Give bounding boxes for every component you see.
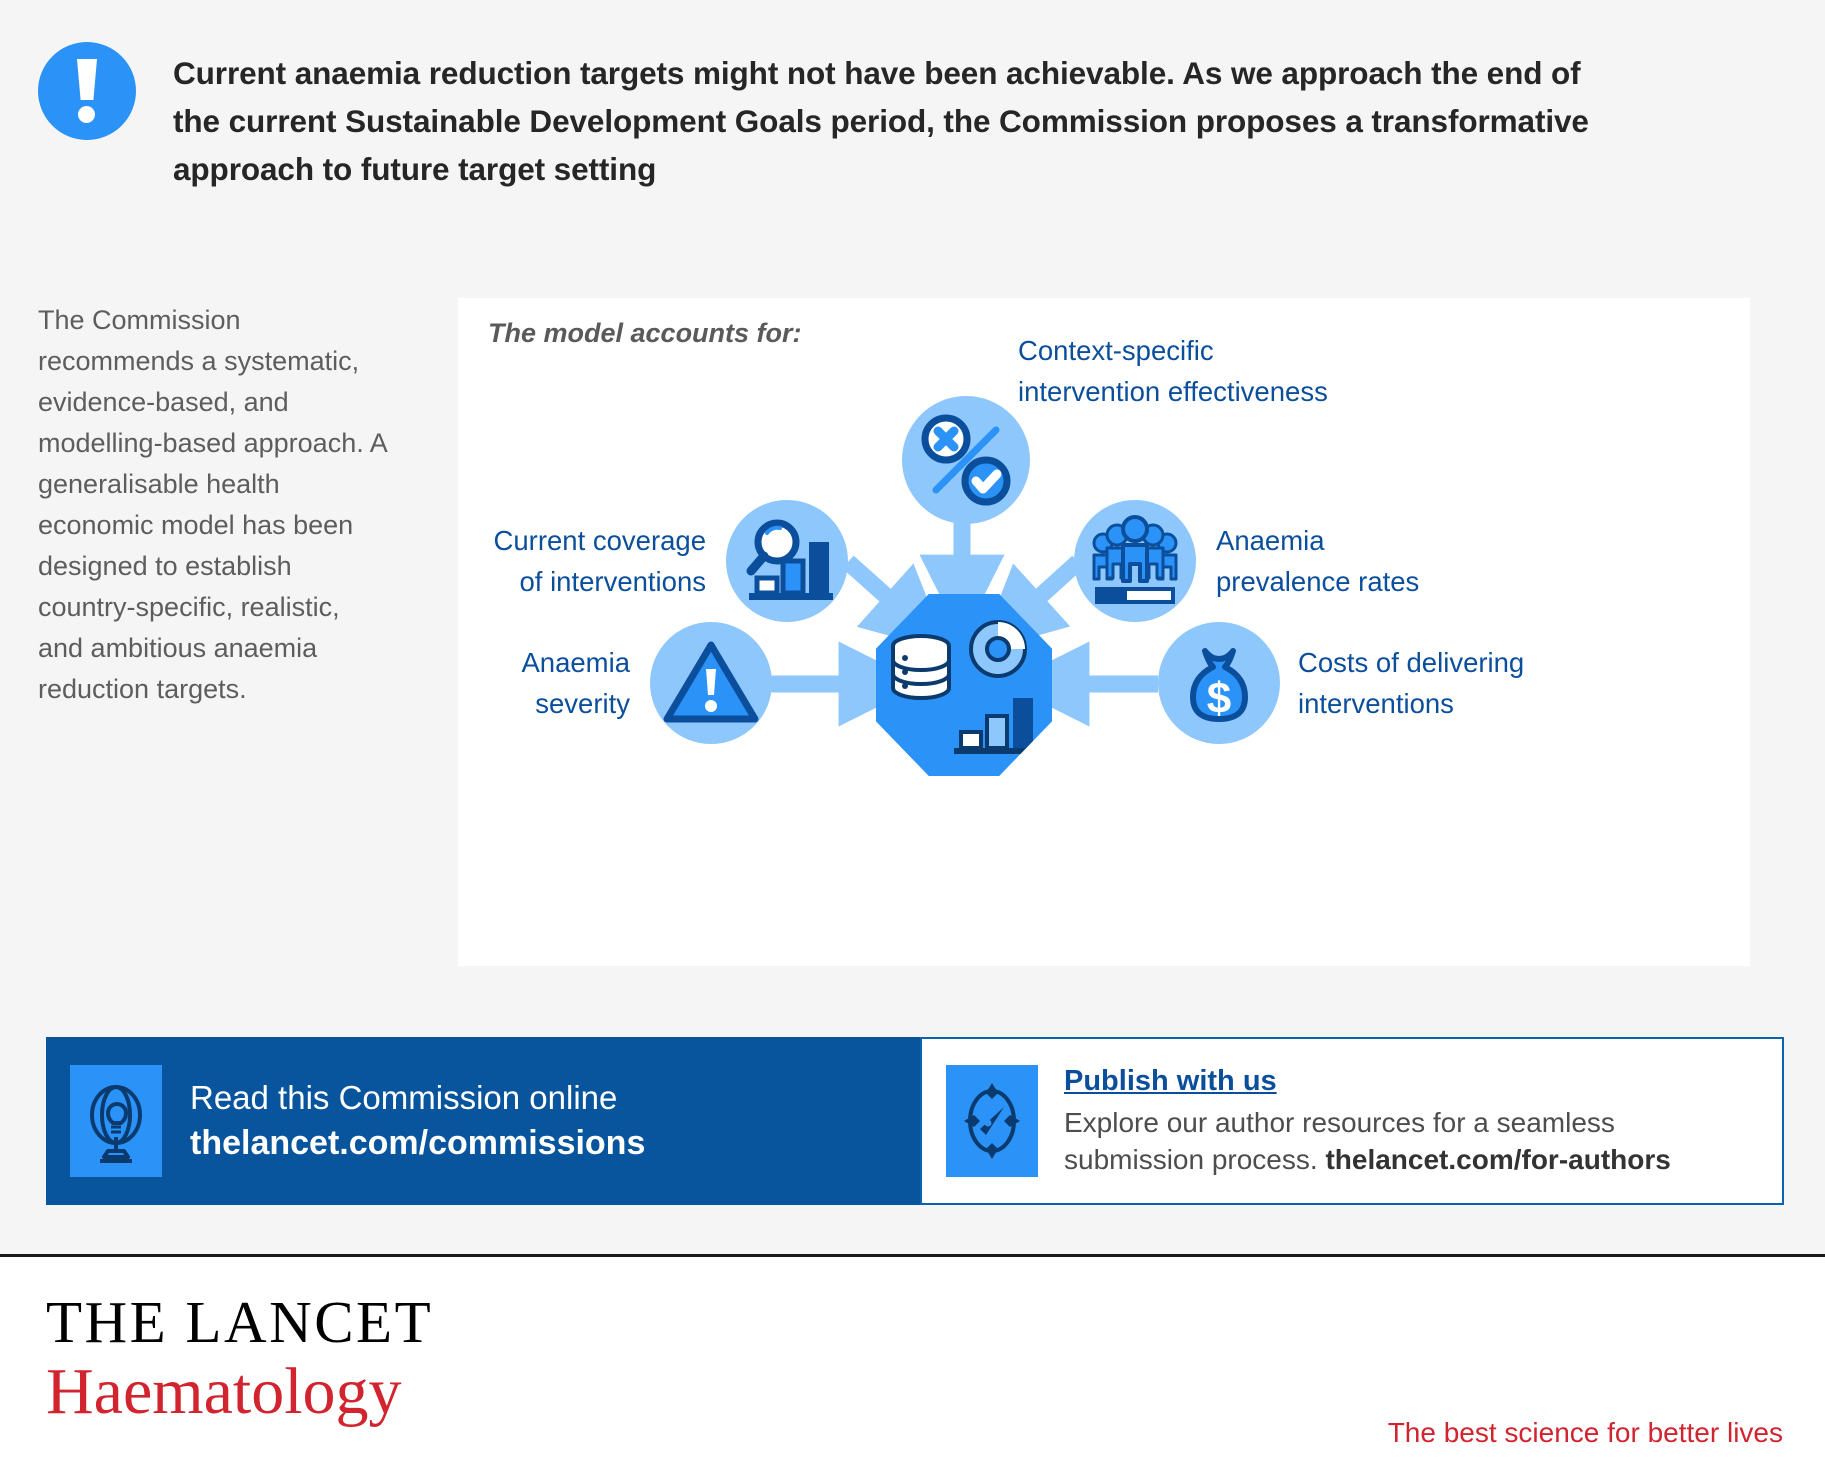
lancet-wordmark: THE LANCET <box>46 1293 433 1352</box>
money-bag-icon: $ <box>1158 622 1280 744</box>
footer-tagline: The best science for better lives <box>1388 1417 1783 1449</box>
people-group-icon <box>1074 500 1196 622</box>
model-diagram-panel: The model accounts for: <box>458 298 1750 966</box>
commission-summary-text: The Commission recommends a systematic, … <box>38 300 390 710</box>
for-authors-url[interactable]: thelancet.com/for-authors <box>1325 1144 1670 1175</box>
globe-lightbulb-icon <box>70 1065 162 1177</box>
compass-icon <box>946 1065 1038 1177</box>
publish-with-us-description: Explore our author resources for a seaml… <box>1064 1104 1724 1179</box>
donut-chart-icon <box>971 622 1025 676</box>
node-label-anaemia-severity: Anaemia severity <box>458 642 630 725</box>
read-commission-online-panel[interactable]: Read this Commission online thelancet.co… <box>46 1037 920 1205</box>
magnifier-bar-chart-icon <box>726 500 848 622</box>
haematology-wordmark: Haematology <box>46 1359 402 1425</box>
publish-with-us-panel[interactable]: Publish with us Explore our author resou… <box>920 1037 1784 1205</box>
publish-with-us-link[interactable]: Publish with us <box>1064 1063 1277 1101</box>
warning-triangle-icon <box>650 622 772 744</box>
model-icons <box>876 594 1052 776</box>
node-label-costs-of-delivering-interventions: Costs of delivering interventions <box>1298 642 1718 725</box>
commissions-url[interactable]: thelancet.com/commissions <box>190 1120 645 1167</box>
exclamation-circle-icon <box>38 42 136 140</box>
header: Current anaemia reduction targets might … <box>0 0 1825 232</box>
promo-banner: Read this Commission online thelancet.co… <box>46 1037 1784 1205</box>
percent-cross-check-icon <box>902 396 1030 524</box>
bar-chart-icon <box>954 698 1038 754</box>
infographic-page: Current anaemia reduction targets might … <box>0 0 1825 1481</box>
read-commission-label: Read this Commission online <box>190 1075 645 1121</box>
svg-text:$: $ <box>1207 674 1231 723</box>
database-icon <box>893 636 949 698</box>
page-title: Current anaemia reduction targets might … <box>173 50 1623 194</box>
node-label-current-coverage-of-interventions: Current coverage of interventions <box>458 520 706 603</box>
health-economic-model-node[interactable] <box>876 594 1052 776</box>
footer: THE LANCET Haematology The best science … <box>0 1254 1825 1481</box>
diagram-title: The model accounts for: <box>488 318 802 349</box>
node-label-context-specific-intervention-effectiveness: Context-specific intervention effectiven… <box>1018 330 1418 413</box>
node-label-anaemia-prevalence-rates: Anaemia prevalence rates <box>1216 520 1546 603</box>
